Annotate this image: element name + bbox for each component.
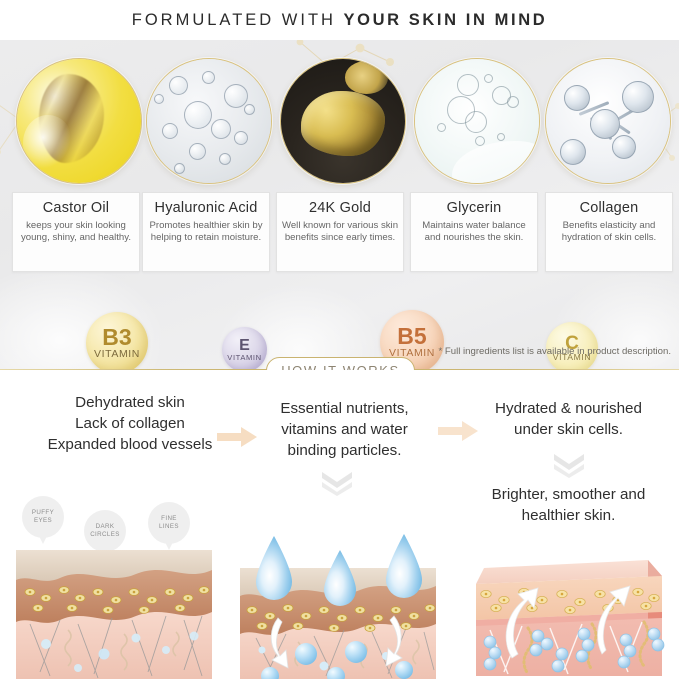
step-3-line-1: Hydrated & nourished (466, 398, 671, 419)
arrow-right-icon-2 (438, 420, 478, 442)
pin-label-line-2: LINES (159, 523, 179, 531)
skin-concern-pin-fine-lines: FINE LINES (148, 502, 190, 544)
ingredient-image-hyaluronic-acid (146, 58, 272, 184)
vitamin-sublabel: VITAMIN (94, 349, 140, 360)
chevron-down-icon-2 (552, 452, 586, 478)
step-4-line-2: healthier skin. (466, 505, 671, 526)
ingredient-image-collagen (545, 58, 671, 184)
ingredient-name: 24K Gold (281, 200, 399, 216)
ingredient-card-glycerin: Glycerin Maintains water balance and nou… (410, 192, 538, 272)
ingredient-image-row (0, 50, 679, 190)
pin-label-line-1: FINE (161, 515, 177, 523)
skin-concern-pin-dark-circles: DARK CIRCLES (84, 510, 126, 552)
ingredient-description: Promotes healthier skin by helping to re… (147, 220, 265, 245)
step-2-line-3: binding particles. (252, 440, 437, 461)
pin-label-line-2: CIRCLES (90, 531, 120, 539)
step-1-line-3: Expanded blood vessels (24, 434, 236, 455)
ingredients-disclaimer: * Full ingredients list is available in … (439, 346, 672, 357)
ingredient-image-glycerin (414, 58, 540, 184)
pin-label-line-1: PUFFY (32, 509, 54, 517)
vitamin-name: B3 (102, 326, 131, 349)
ingredient-name: Castor Oil (17, 200, 135, 216)
skin-diagram-dehydrated-svg (16, 550, 212, 679)
ingredient-description: Well known for various skin benefits sin… (281, 220, 399, 245)
skin-diagram-hydrated-svg (466, 550, 666, 679)
ingredient-description: Maintains water balance and nourishes th… (415, 220, 533, 245)
skin-diagram-absorption (240, 530, 436, 679)
step-3-text: Hydrated & nourished under skin cells. (466, 398, 671, 440)
pin-label-line-2: EYES (34, 517, 52, 525)
ingredient-card-collagen: Collagen Benefits elasticity and hydrati… (545, 192, 673, 272)
page-title: FORMULATED WITH YOUR SKIN IN MIND (132, 11, 548, 30)
ingredients-section: Castor Oil keeps your skin looking young… (0, 40, 679, 369)
ingredient-name: Glycerin (415, 200, 533, 216)
vitamin-badge-b3: B3 VITAMIN (86, 312, 148, 369)
page-title-light: FORMULATED WITH (132, 11, 344, 29)
step-1-text: Dehydrated skin Lack of collagen Expande… (24, 392, 236, 455)
ingredient-card-hyaluronic-acid: Hyaluronic Acid Promotes healthier skin … (142, 192, 270, 272)
step-1-line-1: Dehydrated skin (24, 392, 236, 413)
ingredient-image-castor-oil (16, 58, 142, 184)
step-2-text: Essential nutrients, vitamins and water … (252, 398, 437, 461)
infographic-page: FORMULATED WITH YOUR SKIN IN MIND (0, 0, 679, 679)
header: FORMULATED WITH YOUR SKIN IN MIND (0, 0, 679, 40)
skin-concern-pin-puffy-eyes: PUFFY EYES (22, 496, 64, 538)
vitamin-sublabel: VITAMIN (227, 354, 261, 362)
ingredient-image-24k-gold (280, 58, 406, 184)
how-it-works-section: Dehydrated skin Lack of collagen Expande… (0, 370, 679, 679)
ingredient-name: Hyaluronic Acid (147, 200, 265, 216)
step-1-line-2: Lack of collagen (24, 413, 236, 434)
skin-diagram-absorption-svg (240, 530, 436, 679)
step-2-line-1: Essential nutrients, (252, 398, 437, 419)
skin-diagram-hydrated (466, 550, 666, 679)
ingredient-card-castor-oil: Castor Oil keeps your skin looking young… (12, 192, 140, 272)
water-droplet-icon (256, 534, 422, 606)
pin-label-line-1: DARK (96, 523, 115, 531)
ingredient-cards-row: Castor Oil keeps your skin looking young… (0, 192, 679, 274)
step-4-line-1: Brighter, smoother and (466, 484, 671, 505)
vitamin-name: B5 (397, 325, 426, 348)
skin-diagram-dehydrated (16, 550, 212, 679)
step-3-line-2: under skin cells. (466, 419, 671, 440)
step-2-line-2: vitamins and water (252, 419, 437, 440)
ingredient-name: Collagen (550, 200, 668, 216)
ingredient-card-24k-gold: 24K Gold Well known for various skin ben… (276, 192, 404, 272)
page-title-bold: YOUR SKIN IN MIND (344, 11, 548, 29)
vitamin-name: E (239, 338, 250, 354)
ingredient-description: Benefits elasticity and hydration of ski… (550, 220, 668, 245)
step-4-text: Brighter, smoother and healthier skin. (466, 484, 671, 526)
chevron-down-icon-1 (320, 470, 354, 496)
vitamin-badge-e: E VITAMIN (222, 327, 267, 369)
ingredient-description: keeps your skin looking young, shiny, an… (17, 220, 135, 245)
arrow-right-icon-1 (217, 426, 257, 448)
